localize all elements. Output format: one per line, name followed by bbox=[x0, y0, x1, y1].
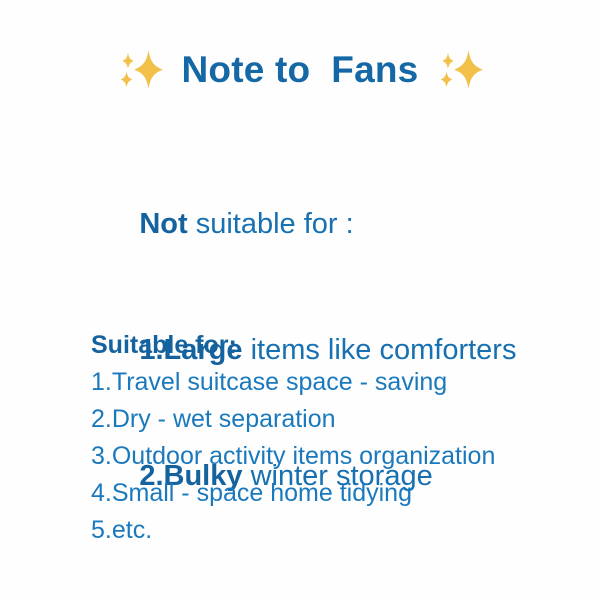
suitable-heading: Suitable for: bbox=[91, 327, 495, 364]
suitable-section: Suitable for: 1.Travel suitcase space - … bbox=[91, 327, 495, 549]
not-suitable-heading-rest: suitable for : bbox=[188, 208, 354, 240]
not-suitable-heading-bold: Not bbox=[139, 208, 187, 240]
sparkles-icon-left bbox=[114, 44, 166, 96]
suitable-item-4: 4.Small - space home tidying bbox=[91, 475, 495, 512]
note-card: Note to Fans Not suitable for : 1.Large … bbox=[0, 0, 600, 600]
sparkles-icon-right bbox=[434, 44, 486, 96]
page-title: Note to Fans bbox=[182, 50, 419, 91]
suitable-item-5: 5.etc. bbox=[91, 512, 495, 549]
not-suitable-heading: Not suitable for : bbox=[91, 161, 516, 287]
suitable-item-1: 1.Travel suitcase space - saving bbox=[91, 364, 495, 401]
title-row: Note to Fans bbox=[0, 44, 600, 96]
suitable-item-2: 2.Dry - wet separation bbox=[91, 401, 495, 438]
suitable-item-3: 3.Outdoor activity items organization bbox=[91, 438, 495, 475]
